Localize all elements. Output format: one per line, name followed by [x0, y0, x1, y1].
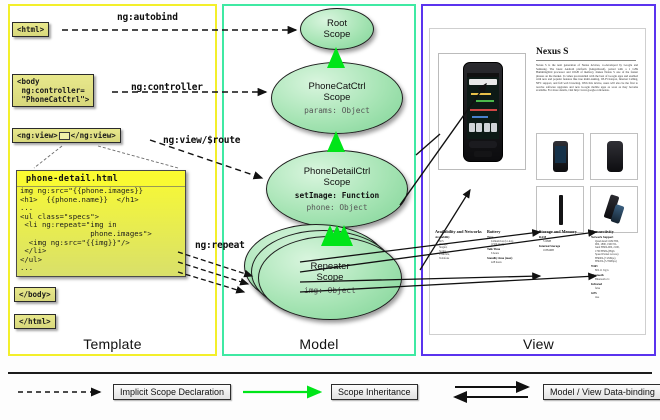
legend-label-scope-inheritance: Scope Inheritance: [331, 384, 418, 400]
spec-dd-ram: 512MB: [543, 240, 588, 243]
setimage-text: setImage: Function: [295, 191, 380, 200]
connector-label-controller: ng:controller: [131, 82, 203, 93]
spec-dd-infrared: false: [595, 287, 640, 290]
code-note-body: img ng:src="{{phone.images}} <h1> {{phon…: [17, 186, 185, 276]
legend-label-model-view-data-binding: Model / View Data-binding: [543, 384, 660, 400]
phone-hero-image-frame: [438, 53, 526, 170]
specs-col-battery: Battery Type Lithium Ion (Li-Ion) (1500 …: [487, 229, 536, 299]
panel-template-label: Template: [10, 336, 215, 352]
scope-root-title: Root Scope: [324, 18, 351, 40]
ng-view-open-tag: <ng:view>: [17, 131, 58, 140]
legend-label-implicit-scope-declaration: Implicit Scope Declaration: [113, 384, 231, 400]
connector-label-repeat: ng:repeat: [195, 240, 245, 251]
specs-heading-storage: Storage and Memory: [539, 229, 588, 234]
code-note-phone-detail: phone-detail.html img ng:src="{{phone.im…: [16, 170, 186, 277]
scope-phonedetailctrl-prop-setimage: setImage: Function: [295, 191, 380, 200]
panel-view-label: View: [423, 336, 654, 352]
specs-table: Availability and Networks Availability M…: [435, 229, 640, 299]
scope-repeater-prop-img: img: Object: [304, 286, 356, 295]
scope-repeater-title: Repeater Scope: [310, 261, 349, 283]
thumbnail-phone-back[interactable]: [590, 133, 638, 180]
ng-view-close-tag: </ng:view>: [71, 131, 116, 140]
product-description: Nexus S is the next generation of Nexus …: [536, 64, 638, 93]
spec-dd-internal-storage: 16384MB: [543, 249, 588, 252]
code-chip-body-close: </body>: [14, 287, 56, 302]
ng-view-slot-icon: [59, 132, 70, 140]
code-chip-ng-view: <ng:view></ng:view>: [12, 128, 121, 143]
spec-dd-bluetooth: Bluetooth 2.1: [595, 278, 640, 281]
spec-dd-network-support: Quad-band GSM 850, 900, 1800, 1900 Tri- …: [595, 240, 640, 264]
phone-wallpaper-line-1: [471, 93, 491, 95]
specs-heading-battery: Battery: [487, 229, 536, 234]
connector-label-autobind: ng:autobind: [117, 12, 178, 23]
phone-screen: [467, 73, 499, 139]
code-chip-html-open: <html>: [12, 22, 49, 37]
specs-col-storage: Storage and Memory RAM 512MB Internal St…: [539, 229, 588, 299]
phone-wallpaper-line-4: [472, 116, 488, 118]
spec-dd-carriers: Orange, Singtel, Sprint, T-Mobile, Vodaf…: [439, 243, 484, 260]
specs-heading-availability: Availability and Networks: [435, 229, 484, 234]
scope-phonecatctrl-prop-params: params: Object: [304, 106, 370, 115]
spec-dd-battery-type: Lithium Ion (Li-Ion) (1500 mAh): [491, 240, 536, 247]
scope-repeater: Repeater Scope img: Object: [258, 236, 402, 320]
scope-phonedetailctrl-prop-phone: phone: Object: [306, 203, 367, 212]
phone-searchbox: [469, 79, 497, 85]
specs-col-connectivity: Connectivity Network Support Quad-band G…: [591, 229, 640, 299]
product-title-divider: [536, 60, 636, 61]
legend-divider: [8, 372, 652, 374]
phone-wallpaper-line-3: [470, 109, 497, 111]
panel-model-label: Model: [224, 336, 414, 352]
thumbnail-grid: [536, 133, 640, 233]
spec-dd-gps: true: [595, 296, 640, 299]
code-note-title: phone-detail.html: [17, 171, 185, 186]
connector-label-ngview-route: ng:view/$route: [163, 135, 240, 146]
specs-heading-connectivity: Connectivity: [591, 229, 640, 234]
phone-hero-image: [463, 62, 503, 162]
scope-phonedetailctrl: PhoneDetailCtrl Scope setImage: Function…: [266, 150, 408, 228]
diagram-canvas: Template Model View <html> <body ng:cont…: [0, 0, 660, 420]
thumbnail-phone-front[interactable]: [536, 133, 584, 180]
code-chip-body-open: <body ng:controller= "PhoneCatCtrl">: [12, 74, 94, 107]
legend-item-model-view-data-binding: Model / View Data-binding: [452, 383, 660, 400]
specs-col-availability: Availability and Networks Availability M…: [435, 229, 484, 299]
spec-dd-wifi: 802.11 b/g/n: [595, 269, 640, 272]
legend-item-implicit-scope-declaration: Implicit Scope Declaration: [18, 383, 231, 400]
rendered-view-page: Nexus S Nexus S is the next generation o…: [429, 28, 646, 335]
legend-item-scope-inheritance: Scope Inheritance: [240, 383, 418, 400]
thumbnail-phone-angle[interactable]: [590, 186, 638, 233]
phone-wallpaper-line-2: [476, 100, 494, 102]
code-chip-html-close: </html>: [14, 314, 56, 329]
phone-statusbar: [467, 73, 499, 77]
spec-dd-standby: 428 hours: [491, 261, 536, 264]
scope-phonecatctrl: PhoneCatCtrl Scope params: Object: [271, 62, 403, 134]
spec-dd-talk-time: 6 hours: [491, 252, 536, 255]
scope-phonecatctrl-title: PhoneCatCtrl Scope: [308, 81, 365, 103]
phone-home-button: [474, 151, 492, 157]
scope-root: Root Scope: [300, 8, 374, 50]
phone-dock: [469, 141, 497, 148]
phone-app-icons: [469, 123, 497, 132]
product-title: Nexus S: [536, 47, 568, 57]
thumbnail-phone-side[interactable]: [536, 186, 584, 233]
scope-phonedetailctrl-title: PhoneDetailCtrl Scope: [304, 166, 371, 188]
